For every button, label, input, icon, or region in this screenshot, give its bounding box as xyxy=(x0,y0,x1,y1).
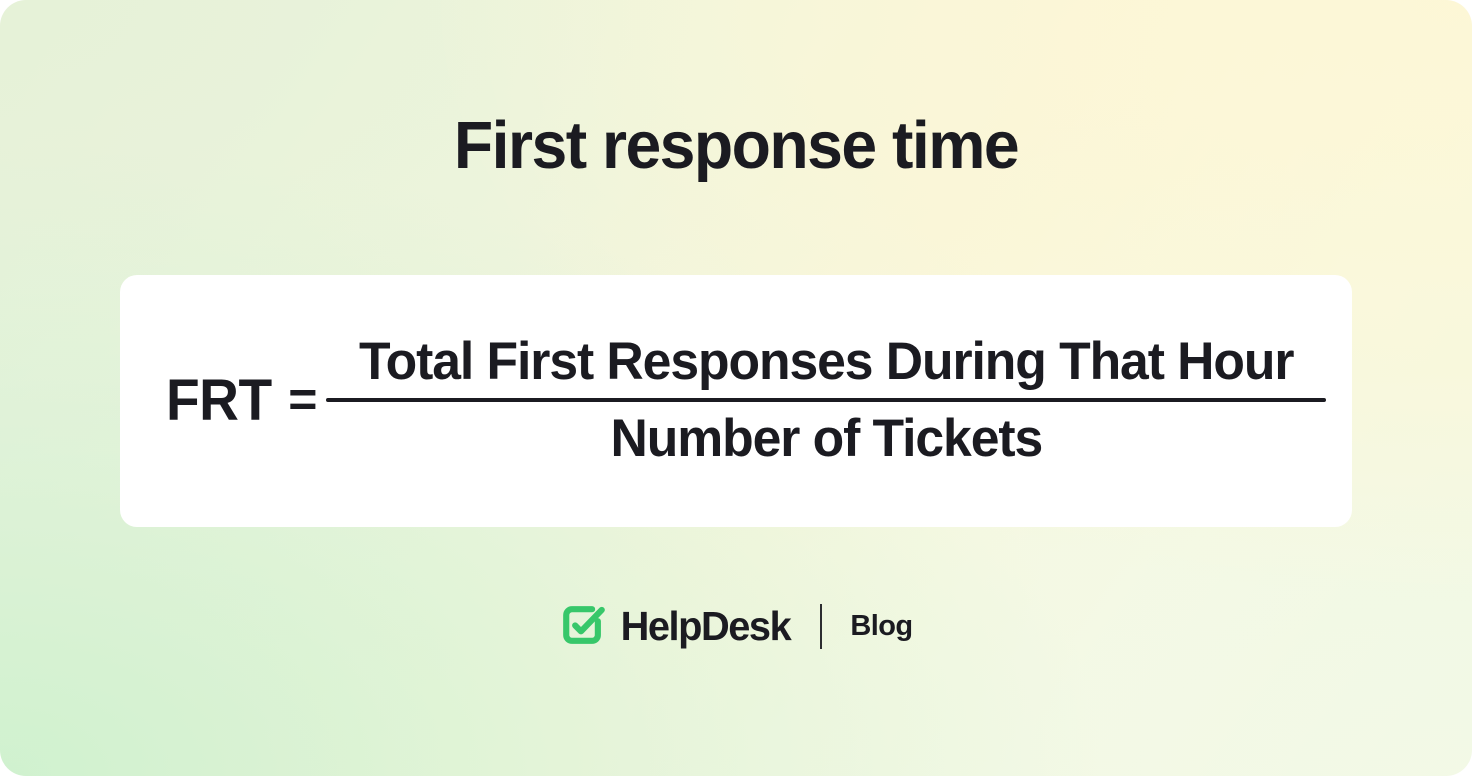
fraction-denominator: Number of Tickets xyxy=(611,412,1043,467)
formula-left-side: FRT xyxy=(166,367,272,436)
brand-divider xyxy=(820,604,822,649)
fraction-numerator: Total First Responses During That Hour xyxy=(359,335,1293,390)
checkmark-square-icon xyxy=(560,603,606,649)
helpdesk-logo[interactable]: HelpDesk xyxy=(560,603,793,649)
formula-expression: FRT = Total First Responses During That … xyxy=(120,275,1352,527)
infographic-canvas: First response time FRT = Total First Re… xyxy=(0,0,1472,776)
fraction-bar xyxy=(326,398,1326,402)
brand-footer: HelpDesk Blog xyxy=(0,603,1472,649)
brand-wordmark: HelpDesk xyxy=(620,606,790,647)
formula-card: FRT = Total First Responses During That … xyxy=(120,275,1352,527)
brand-section-label[interactable]: Blog xyxy=(850,612,912,641)
equals-operator: = xyxy=(288,370,317,432)
page-title: First response time xyxy=(29,112,1442,179)
fraction: Total First Responses During That Hour N… xyxy=(326,335,1326,466)
